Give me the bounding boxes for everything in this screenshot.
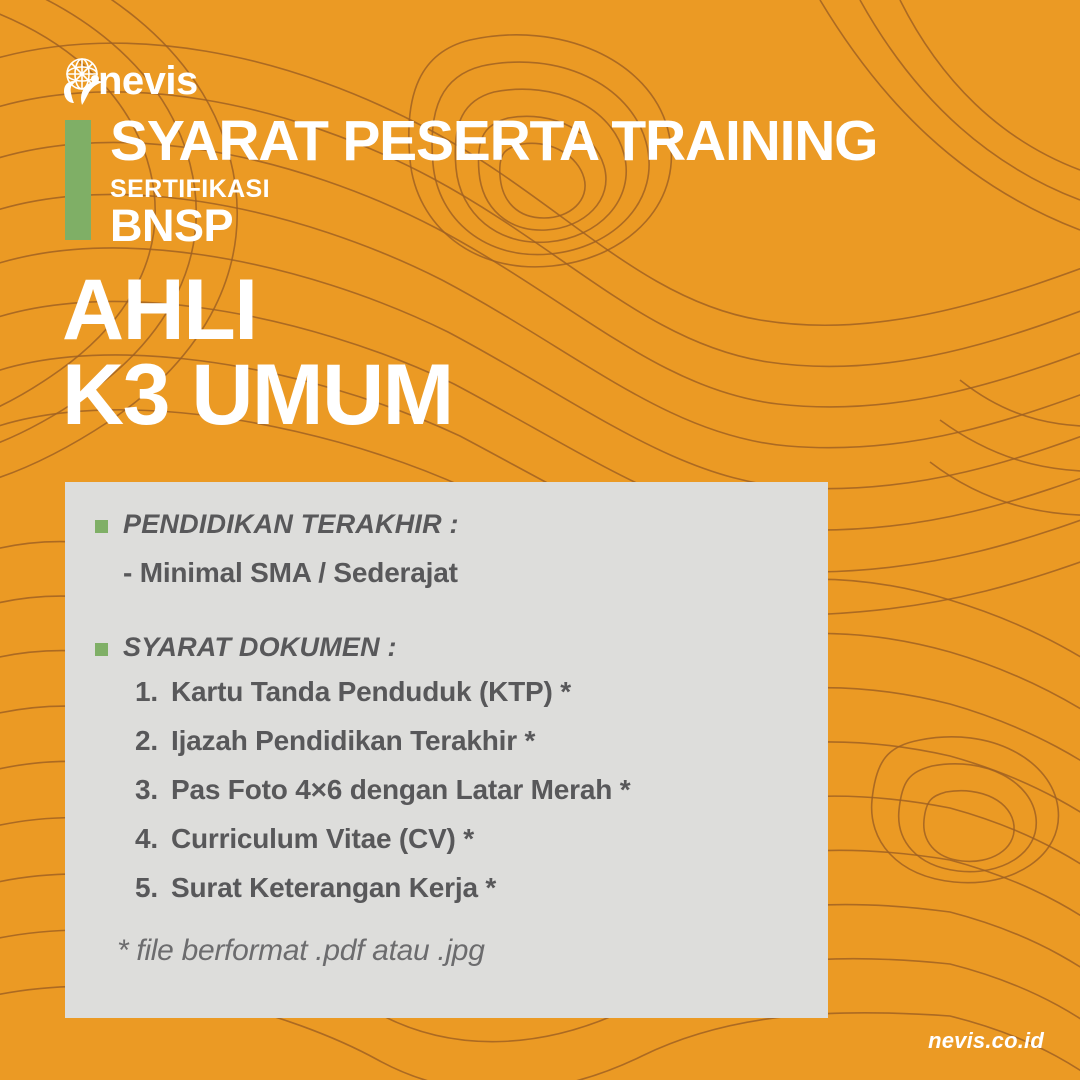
headline: AHLI K3 UMUM bbox=[62, 268, 453, 438]
section-dokumen: SYARAT DOKUMEN : bbox=[95, 631, 798, 663]
section-spacer bbox=[95, 589, 798, 631]
section-pendidikan: PENDIDIKAN TERAKHIR : bbox=[95, 508, 798, 540]
list-item: 2. Ijazah Pendidikan Terakhir * bbox=[135, 725, 798, 757]
page-title: SYARAT PESERTA TRAINING bbox=[110, 112, 1010, 170]
document-list: 1. Kartu Tanda Penduduk (KTP) * 2. Ijaza… bbox=[135, 676, 798, 904]
bullet-square-icon bbox=[95, 643, 108, 656]
section-heading-pendidikan: PENDIDIKAN TERAKHIR : bbox=[123, 508, 459, 540]
list-item-number: 2. bbox=[135, 725, 171, 757]
list-item-label: Surat Keterangan Kerja * bbox=[171, 872, 496, 904]
list-item-number: 1. bbox=[135, 676, 171, 708]
list-item-number: 4. bbox=[135, 823, 171, 855]
list-item-label: Ijazah Pendidikan Terakhir * bbox=[171, 725, 535, 757]
header-block: SYARAT PESERTA TRAINING SERTIFIKASI BNSP bbox=[110, 112, 1010, 249]
brand-logo[interactable]: nevis bbox=[58, 52, 198, 110]
list-item: 3. Pas Foto 4×6 dengan Latar Merah * bbox=[135, 774, 798, 806]
requirements-card: PENDIDIKAN TERAKHIR : - Minimal SMA / Se… bbox=[65, 482, 828, 1018]
card-footnote: * file berformat .pdf atau .jpg bbox=[117, 934, 798, 968]
page-subtitle-sertifikasi: SERTIFIKASI bbox=[110, 175, 1010, 204]
section-pendidikan-line-1: - Minimal SMA / Sederajat bbox=[123, 557, 798, 589]
list-item: 4. Curriculum Vitae (CV) * bbox=[135, 823, 798, 855]
list-item-number: 3. bbox=[135, 774, 171, 806]
website-url[interactable]: nevis.co.id bbox=[928, 1028, 1044, 1054]
list-item-label: Pas Foto 4×6 dengan Latar Merah * bbox=[171, 774, 630, 806]
brand-logo-text: nevis bbox=[98, 61, 198, 101]
bullet-square-icon bbox=[95, 520, 108, 533]
list-item-label: Kartu Tanda Penduduk (KTP) * bbox=[171, 676, 571, 708]
list-item: 1. Kartu Tanda Penduduk (KTP) * bbox=[135, 676, 798, 708]
page-subtitle-bnsp: BNSP bbox=[110, 202, 1010, 249]
list-item: 5. Surat Keterangan Kerja * bbox=[135, 872, 798, 904]
poster-canvas: nevis SYARAT PESERTA TRAINING SERTIFIKAS… bbox=[0, 0, 1080, 1080]
list-item-number: 5. bbox=[135, 872, 171, 904]
headline-line-2: K3 UMUM bbox=[62, 353, 453, 438]
list-item-label: Curriculum Vitae (CV) * bbox=[171, 823, 474, 855]
accent-bar bbox=[65, 120, 91, 240]
headline-line-1: AHLI bbox=[62, 268, 453, 353]
section-heading-dokumen: SYARAT DOKUMEN : bbox=[123, 631, 397, 663]
